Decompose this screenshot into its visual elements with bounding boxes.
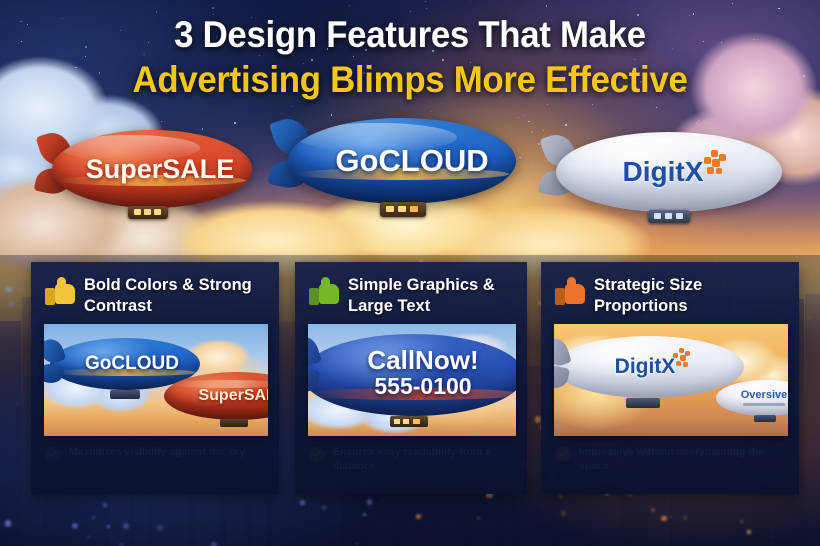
blimp-label: GoCLOUD xyxy=(335,143,488,179)
feature-card-strategic-size[interactable]: Strategic Size Proportions DigitX xyxy=(541,262,799,494)
thumbs-up-icon xyxy=(45,277,75,305)
card-image-bold-colors: GoCLOUD SuperSALE xyxy=(44,324,268,436)
title-line-1: 3 Design Features That Make xyxy=(25,14,796,55)
blimp-label: DigitX xyxy=(623,156,704,188)
gondola-window xyxy=(154,209,161,214)
gondola-icon xyxy=(648,210,690,223)
card-header: Simple Graphics & Large Text xyxy=(295,262,527,316)
card-header: Bold Colors & Strong Contrast xyxy=(31,262,279,316)
feature-card-simple-graphics[interactable]: Simple Graphics & Large Text CallNow! 55… xyxy=(295,262,527,494)
thumbs-up-icon xyxy=(555,277,585,305)
hero-blimp-row: SuperSALE GoCLOUD xyxy=(0,108,820,258)
blimp-envelope: GoCLOUD xyxy=(288,118,516,204)
mini-blimp-subtext-bar xyxy=(743,403,785,406)
gondola-window xyxy=(134,209,141,214)
gondola-window xyxy=(144,209,151,214)
title-line-2: Advertising Blimps More Effective xyxy=(25,59,796,100)
card-image-strategic-size: DigitX Oversive xyxy=(554,324,788,436)
blimp-label: SuperSALE xyxy=(86,154,235,185)
thumbs-up-icon xyxy=(309,277,339,305)
gondola-icon xyxy=(380,202,426,217)
gondola-window xyxy=(386,206,394,212)
card-title: Bold Colors & Strong Contrast xyxy=(84,275,267,316)
mini-digitx-blimp: DigitX xyxy=(554,336,744,398)
blimp-envelope: DigitX xyxy=(556,132,782,212)
gondola-window xyxy=(410,206,418,212)
mini-blimp-label: GoCLOUD xyxy=(85,353,179,375)
gondola-window xyxy=(398,206,406,212)
hero-digitx-blimp: DigitX xyxy=(556,132,782,212)
orange-dot-cluster-icon xyxy=(702,150,728,176)
mini-blimp-phone: 555-0100 xyxy=(374,373,471,399)
gondola-window xyxy=(654,213,661,218)
card-title: Strategic Size Proportions xyxy=(594,275,787,316)
card-image-simple-graphics: CallNow! 555-0100 xyxy=(308,324,516,436)
mini-callnow-blimp: CallNow! 555-0100 xyxy=(308,334,516,416)
infographic-poster: 3 Design Features That Make Advertising … xyxy=(0,0,820,546)
mini-blimp-label: CallNow! xyxy=(367,347,478,373)
orange-dot-cluster-icon xyxy=(672,348,692,368)
mini-blimp-label: Oversive xyxy=(741,390,787,402)
gondola-icon xyxy=(128,206,168,219)
mini-blimp-label: DigitX xyxy=(615,355,676,379)
mini-blimp-label: SuperSALE xyxy=(198,387,268,405)
hero-supersale-blimp: SuperSALE xyxy=(52,130,252,208)
gondola-window xyxy=(676,213,683,218)
feature-cards-row: Bold Colors & Strong Contrast GoCLOUD xyxy=(0,262,820,512)
blimp-envelope: SuperSALE xyxy=(52,130,252,208)
card-header: Strategic Size Proportions xyxy=(541,262,799,316)
gondola-window xyxy=(665,213,672,218)
card-title: Simple Graphics & Large Text xyxy=(348,275,515,316)
feature-card-bold-colors[interactable]: Bold Colors & Strong Contrast GoCLOUD xyxy=(31,262,279,494)
poster-title: 3 Design Features That Make Advertising … xyxy=(0,14,820,101)
hero-gocloud-blimp: GoCLOUD xyxy=(288,118,516,204)
